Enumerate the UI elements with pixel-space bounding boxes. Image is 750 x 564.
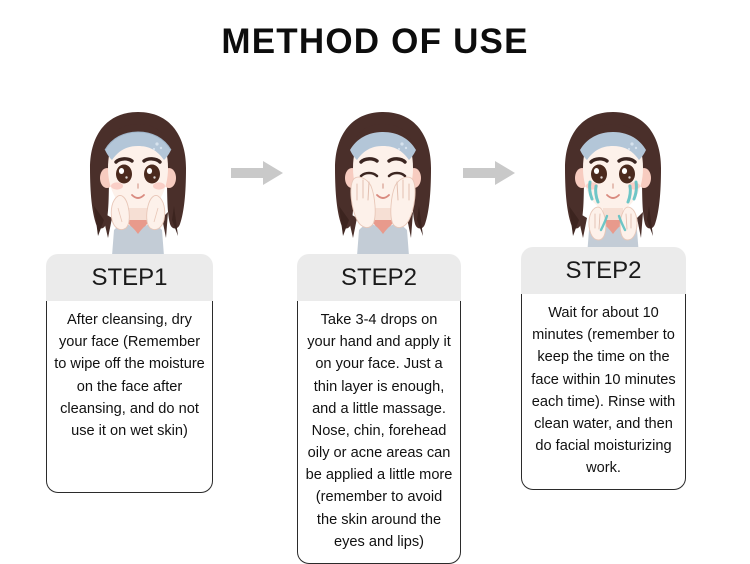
step-card-1-body: After cleansing, dry your face (Remember… (46, 301, 213, 493)
page-title: METHOD OF USE (0, 22, 750, 62)
illustration-girl-with-serum-on-cheeks (533, 96, 693, 256)
method-of-use-infographic: METHOD OF USE (0, 0, 750, 562)
illustration-girl-touching-cheeks (58, 96, 218, 256)
step-card-1-header: STEP1 (46, 254, 213, 301)
illustration-girl-massaging-face (303, 96, 463, 256)
step-card-2-body: Take 3-4 drops on your hand and apply it… (297, 301, 461, 564)
step-card-2-header: STEP2 (297, 254, 461, 301)
step-card-3-header: STEP2 (521, 247, 686, 294)
step-card-3: STEP2 Wait for about 10 minutes (remembe… (521, 247, 686, 490)
arrow-step1-to-step2-icon (231, 160, 283, 186)
step-card-1: STEP1 After cleansing, dry your face (Re… (46, 254, 213, 493)
step-card-3-body: Wait for about 10 minutes (remember to k… (521, 294, 686, 490)
step-card-2: STEP2 Take 3-4 drops on your hand and ap… (297, 254, 461, 564)
arrow-step2-to-step3-icon (463, 160, 515, 186)
